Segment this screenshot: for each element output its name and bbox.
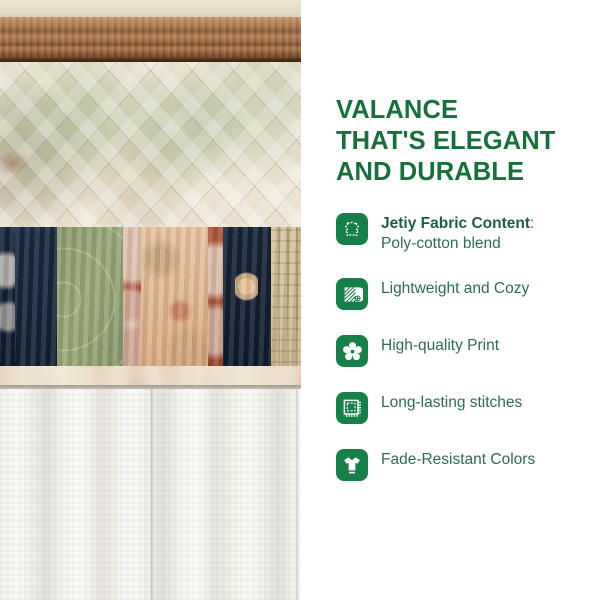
patch-navy [15,227,57,372]
patch-tan-plaid [271,227,301,372]
list-item: Jetiy Fabric Content:Poly-cotton blend [336,213,586,253]
list-item-label: Lightweight and Cozy [381,278,529,299]
promo-banner: VALANCE THAT'S ELEGANT AND DURABLE Jetiy… [0,0,600,600]
list-item-label: High-quality Print [381,335,499,356]
feature-label-colon: : [530,215,534,232]
list-item-label: Long-lasting stitches [381,392,522,413]
copy-panel: VALANCE THAT'S ELEGANT AND DURABLE Jetiy… [301,0,600,600]
list-item-label: Jetiy Fabric Content:Poly-cotton blend [381,213,534,253]
feature-label-rest: Poly-cotton blend [381,235,501,252]
rust-floral-binding [0,366,301,385]
quilt-puff-highlights [0,62,301,227]
patch-navy-floral [0,227,15,372]
list-item: Lightweight and Cozy [336,278,586,310]
list-item: Fade-Resistant Colors [336,449,586,481]
patchwork-band [0,227,301,372]
headline-line-1: VALANCE [336,95,588,126]
list-item: High-quality Print [336,335,586,367]
fabric-roll-icon [336,278,368,310]
headline-line-3: AND DURABLE [336,157,588,188]
patch-navy-flower [223,227,271,372]
list-item-label: Fade-Resistant Colors [381,449,535,470]
cream-quilted-panel [0,62,301,227]
patch-rust-strip-right [208,227,223,372]
feature-label-strong: Jetiy Fabric Content [381,215,530,232]
flower-icon [336,335,368,367]
list-item: Long-lasting stitches [336,392,586,424]
patch-peach-floral [141,227,207,372]
product-photo [0,0,301,600]
stitched-square-icon [336,392,368,424]
wood-cornice-board [0,17,301,60]
garment-shirt-icon [336,449,368,481]
feature-list: Jetiy Fabric Content:Poly-cotton blend [336,213,586,506]
patch-sage-green [57,227,123,372]
headline-line-2: THAT'S ELEGANT [336,126,588,157]
page-title: VALANCE THAT'S ELEGANT AND DURABLE [336,95,588,188]
patch-rust-strip-left [123,227,141,372]
fabric-swatch-icon [336,213,368,245]
curtain-panel-split [151,389,154,600]
